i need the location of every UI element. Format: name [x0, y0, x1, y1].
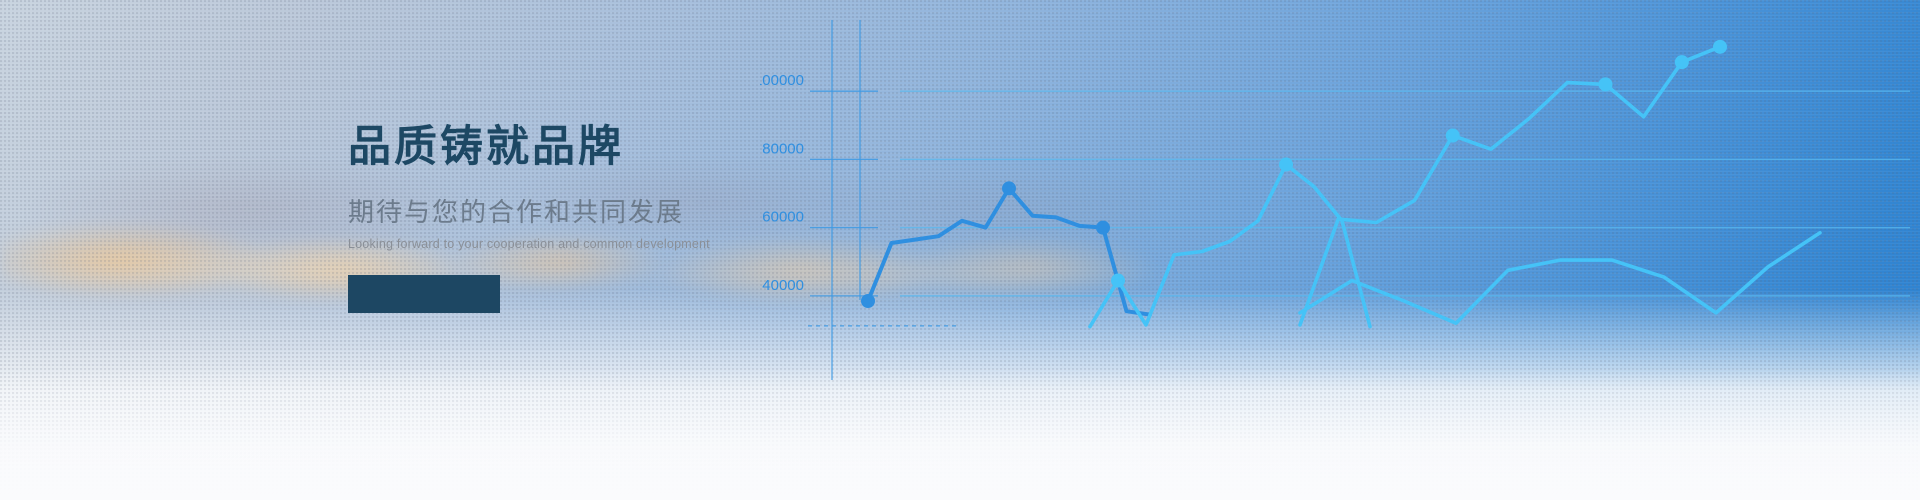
y-tick-label: 40000	[762, 277, 804, 294]
banner-cta-button[interactable]	[348, 275, 500, 313]
chart-marker	[861, 294, 875, 308]
chart-marker	[1675, 55, 1689, 69]
banner-subheadline-english: Looking forward to your cooperation and …	[348, 236, 768, 252]
chart-marker	[1096, 221, 1110, 235]
banner-headline: 品质铸就品牌	[348, 124, 768, 171]
banner-copy-block: 品质铸就品牌 期待与您的合作和共同发展 Looking forward to y…	[348, 124, 768, 313]
line-chart: 400006000080000100000	[760, 0, 1920, 500]
y-tick-label: 60000	[762, 209, 804, 226]
y-tick-label: 100000	[760, 72, 804, 89]
chart-axis	[808, 20, 960, 380]
chart-marker	[1111, 274, 1125, 288]
chart-marker	[1279, 158, 1293, 172]
chart-marker	[1002, 181, 1016, 195]
chart-marker	[1598, 77, 1612, 91]
chart-marker	[1446, 129, 1460, 143]
chart-gridlines	[900, 91, 1910, 296]
chart-line-series-4	[1300, 233, 1820, 323]
chart-canvas: 400006000080000100000	[760, 0, 1920, 500]
y-tick-label: 80000	[762, 140, 804, 157]
chart-marker	[1713, 40, 1727, 54]
banner-subheadline: 期待与您的合作和共同发展	[348, 197, 768, 228]
chart-series-group	[861, 40, 1820, 327]
hero-banner: 品质铸就品牌 期待与您的合作和共同发展 Looking forward to y…	[0, 0, 1920, 500]
chart-y-tick-labels: 400006000080000100000	[760, 72, 804, 294]
